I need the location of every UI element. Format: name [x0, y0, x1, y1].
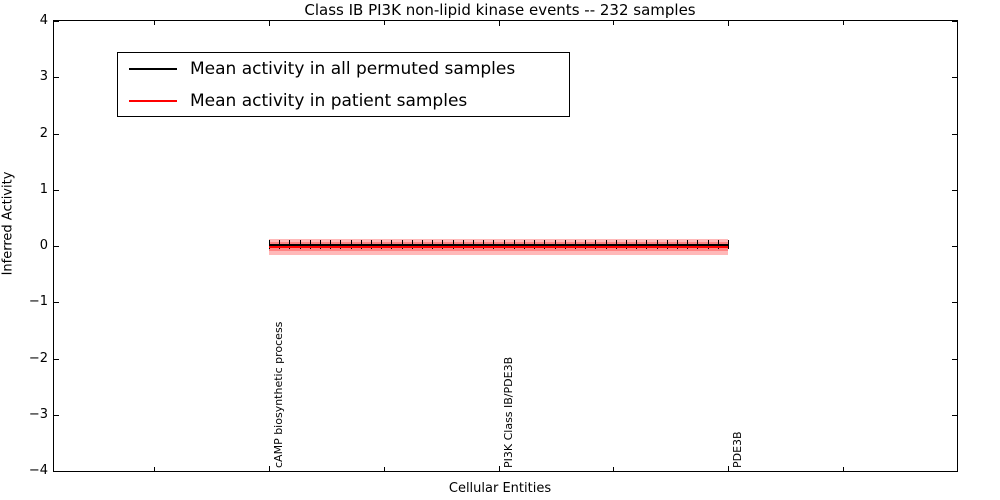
legend-entry-patient[interactable]: Mean activity in patient samples: [118, 85, 569, 117]
legend-swatch-permuted: [129, 68, 177, 70]
chart-legend[interactable]: Mean activity in all permuted samples Me…: [117, 52, 570, 117]
patient-mean-line: [269, 246, 728, 248]
y-tick-mark: [54, 471, 59, 472]
legend-label-permuted: Mean activity in all permuted samples: [190, 59, 515, 79]
legend-swatch-patient: [129, 100, 177, 102]
x-axis-title: Cellular Entities: [0, 481, 1000, 496]
legend-label-patient: Mean activity in patient samples: [190, 91, 467, 111]
y-tick-label: −4: [8, 464, 48, 477]
y-axis-title: Inferred Activity: [1, 24, 16, 424]
permuted-mean-line: [269, 244, 728, 246]
y-tick-mark-right: [952, 471, 957, 472]
legend-entry-permuted[interactable]: Mean activity in all permuted samples: [118, 53, 569, 85]
error-bar: [728, 240, 729, 249]
chart-figure: Class IB PI3K non-lipid kinase events --…: [0, 0, 1000, 500]
chart-title: Class IB PI3K non-lipid kinase events --…: [0, 1, 1000, 19]
plot-area: 43210−1−2−3−4 cAMP biosynthetic processP…: [53, 20, 958, 472]
